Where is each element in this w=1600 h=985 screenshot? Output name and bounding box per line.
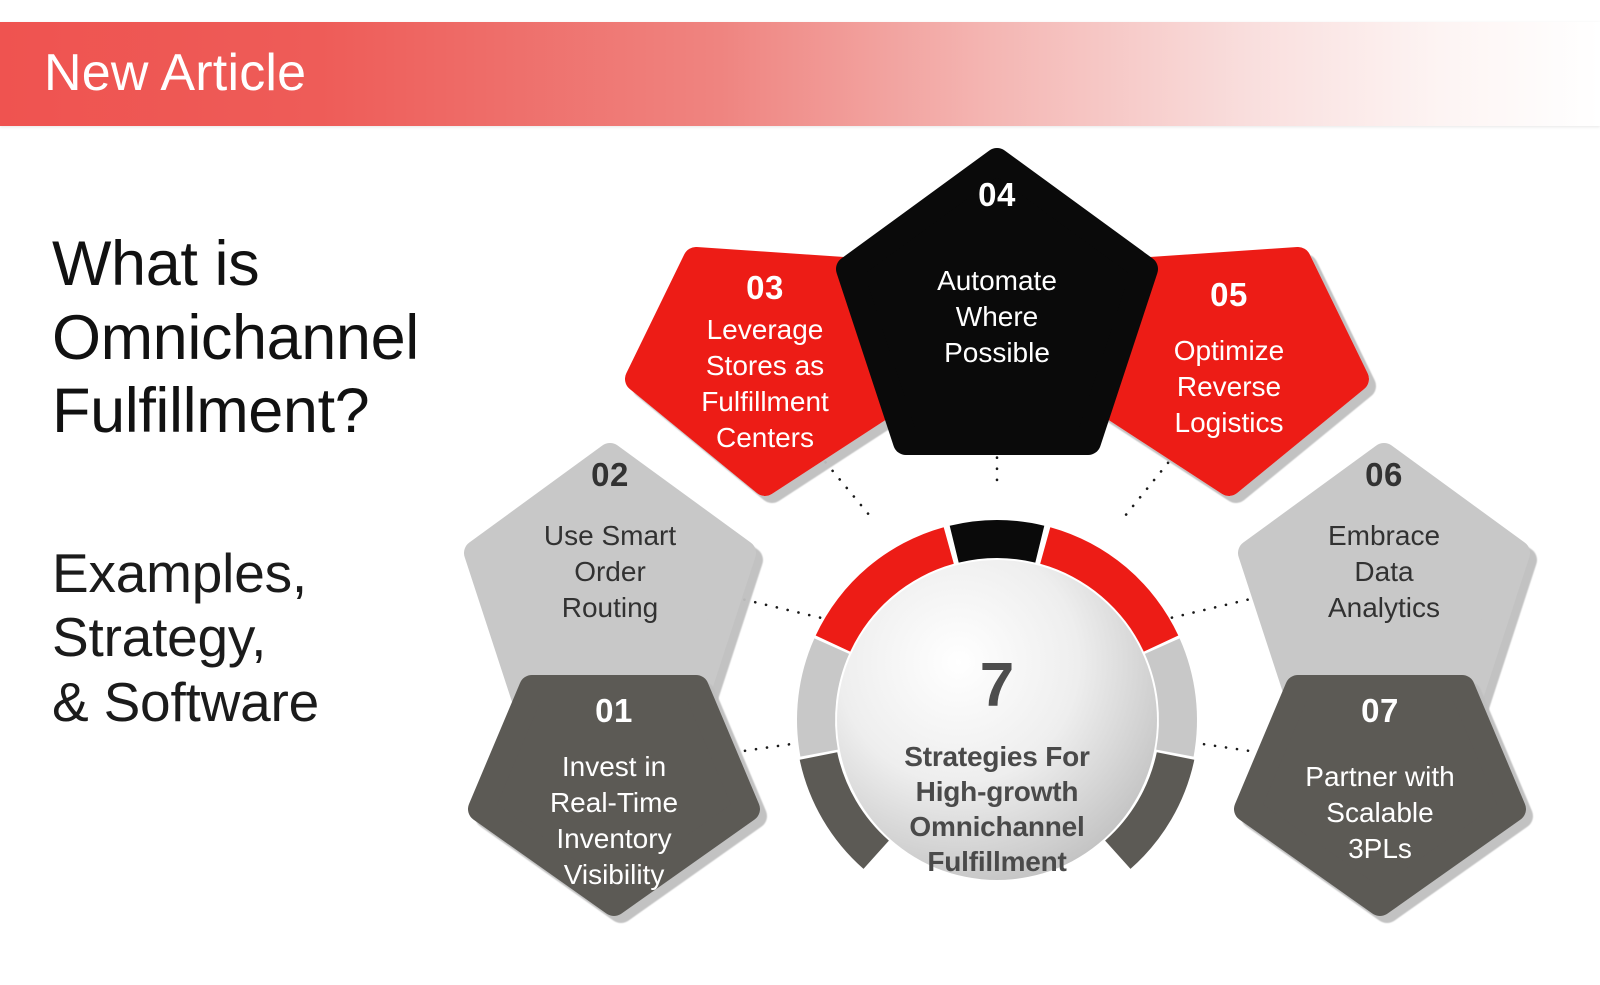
step-02-line-3: Routing: [562, 592, 659, 623]
seven-strategies-diagram: 7 Strategies For High-growth Omnichannel…: [440, 126, 1600, 985]
headline-line-3: Fulfillment?: [52, 376, 369, 446]
step-05-line-3: Logistics: [1175, 407, 1284, 438]
banner-label: New Article: [44, 47, 306, 99]
step-01-line-4: Visibility: [564, 859, 665, 890]
new-article-banner: New Article: [0, 22, 1600, 126]
headline-line-1: What is: [52, 229, 259, 299]
step-07-line-1: Partner with: [1305, 761, 1454, 792]
step-01-line-2: Real-Time: [550, 787, 678, 818]
step-pentagon-02[interactable]: 02 Use Smart Order Routing: [477, 456, 743, 709]
step-03-line-3: Fulfillment: [701, 386, 829, 417]
step-03-number: 03: [746, 269, 784, 306]
step-01-line-3: Inventory: [556, 823, 671, 854]
step-06-line-1: Embrace: [1328, 520, 1440, 551]
step-pentagon-06[interactable]: 06 Embrace Data Analytics: [1251, 456, 1517, 709]
step-03-line-1: Leverage: [707, 314, 824, 345]
step-04-line-1: Automate: [937, 265, 1057, 296]
step-06-line-3: Analytics: [1328, 592, 1440, 623]
step-06-line-2: Data: [1354, 556, 1414, 587]
step-01-number: 01: [595, 692, 633, 729]
step-pentagon-07[interactable]: 07 Partner with Scalable 3PLs: [1247, 688, 1513, 903]
ring-segment-04: [950, 520, 1045, 563]
step-06-number: 06: [1365, 456, 1403, 493]
step-04-line-2: Where: [956, 301, 1038, 332]
step-04-number: 04: [978, 176, 1016, 213]
hub-caption-line-1: Strategies For: [904, 741, 1090, 772]
step-07-number: 07: [1361, 692, 1399, 729]
hub-caption-line-2: High-growth: [916, 776, 1079, 807]
step-pentagon-04[interactable]: 04 Automate Where Possible: [849, 161, 1145, 442]
step-04-line-3: Possible: [944, 337, 1050, 368]
step-03-line-4: Centers: [716, 422, 814, 453]
step-05-number: 05: [1210, 276, 1248, 313]
hub-number: 7: [980, 651, 1014, 720]
step-07-line-2: Scalable: [1326, 797, 1433, 828]
step-05-line-2: Reverse: [1177, 371, 1281, 402]
hub-caption-line-3: Omnichannel: [909, 811, 1084, 842]
hub-caption-line-4: Fulfillment: [927, 846, 1066, 877]
step-02-line-2: Order: [574, 556, 646, 587]
hub-ring: 7 Strategies For High-growth Omnichannel…: [797, 520, 1197, 880]
step-01-line-1: Invest in: [562, 751, 666, 782]
headline-line-2: Omnichannel: [52, 303, 419, 373]
step-02-number: 02: [591, 456, 629, 493]
step-02-line-1: Use Smart: [544, 520, 676, 551]
step-pentagon-01[interactable]: 01 Invest in Real-Time Inventory Visibil…: [481, 688, 747, 903]
step-07-line-3: 3PLs: [1348, 833, 1412, 864]
step-03-line-2: Stores as: [706, 350, 824, 381]
step-05-line-1: Optimize: [1174, 335, 1284, 366]
